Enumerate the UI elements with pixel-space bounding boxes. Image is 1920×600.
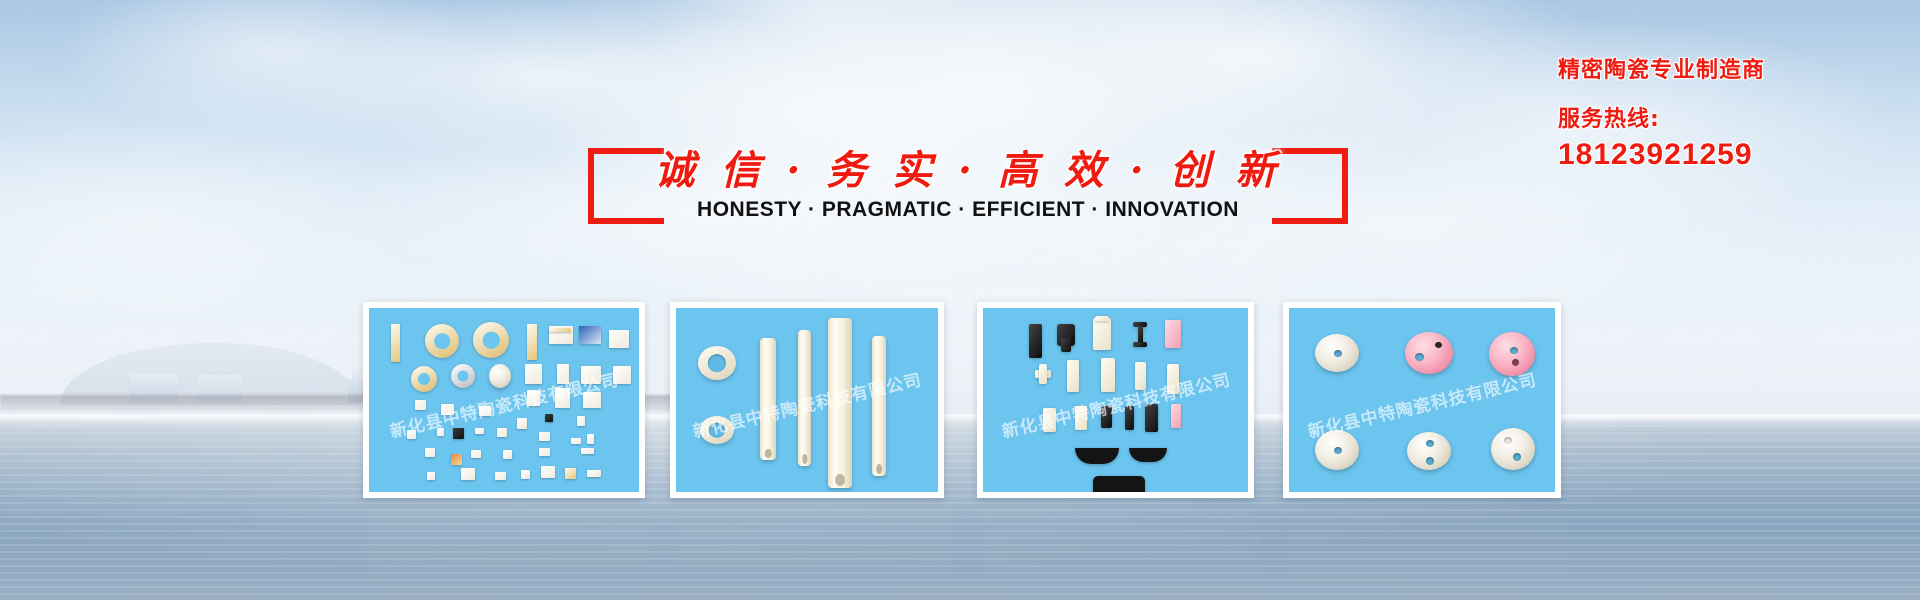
product-panel-4-image: 新化县中特陶瓷科技有限公司 — [1289, 308, 1555, 492]
hero-banner: 诚 信 · 务 实 · 高 效 · 创 新 HONESTY · PRAGMATI… — [0, 0, 1920, 600]
product-panel-4[interactable]: 新化县中特陶瓷科技有限公司 — [1283, 302, 1561, 498]
slogan-chinese: 诚 信 · 务 实 · 高 效 · 创 新 — [588, 138, 1348, 196]
cloud-icon — [0, 120, 420, 320]
contact-title: 精密陶瓷专业制造商 — [1558, 52, 1898, 84]
hotline-number[interactable]: 18123921259 — [1558, 138, 1898, 172]
cloud-icon — [640, 0, 1020, 110]
cloud-icon — [60, 0, 480, 140]
slogan-block: 诚 信 · 务 实 · 高 效 · 创 新 HONESTY · PRAGMATI… — [588, 140, 1348, 240]
product-panel-2-image: 新化县中特陶瓷科技有限公司 — [676, 308, 938, 492]
product-panels: 新化县中特陶瓷科技有限公司 新化县中特陶瓷科技有限公司 — [363, 302, 1563, 498]
hotline-label: 服务热线: — [1558, 101, 1898, 133]
cloud-icon — [260, 0, 820, 160]
panel-watermark: 新化县中特陶瓷科技有限公司 — [999, 365, 1233, 442]
product-panel-3-image: 新化县中特陶瓷科技有限公司 — [983, 308, 1248, 492]
product-panel-1-image: 新化县中特陶瓷科技有限公司 — [369, 308, 639, 492]
product-panel-2[interactable]: 新化县中特陶瓷科技有限公司 — [670, 302, 944, 498]
product-panel-3[interactable]: 新化县中特陶瓷科技有限公司 — [977, 302, 1254, 498]
slogan-english: HONESTY · PRAGMATIC · EFFICIENT · INNOVA… — [588, 198, 1348, 222]
product-panel-1[interactable]: 新化县中特陶瓷科技有限公司 — [363, 302, 645, 498]
contact-block: 精密陶瓷专业制造商 服务热线: 18123921259 — [1558, 52, 1898, 172]
